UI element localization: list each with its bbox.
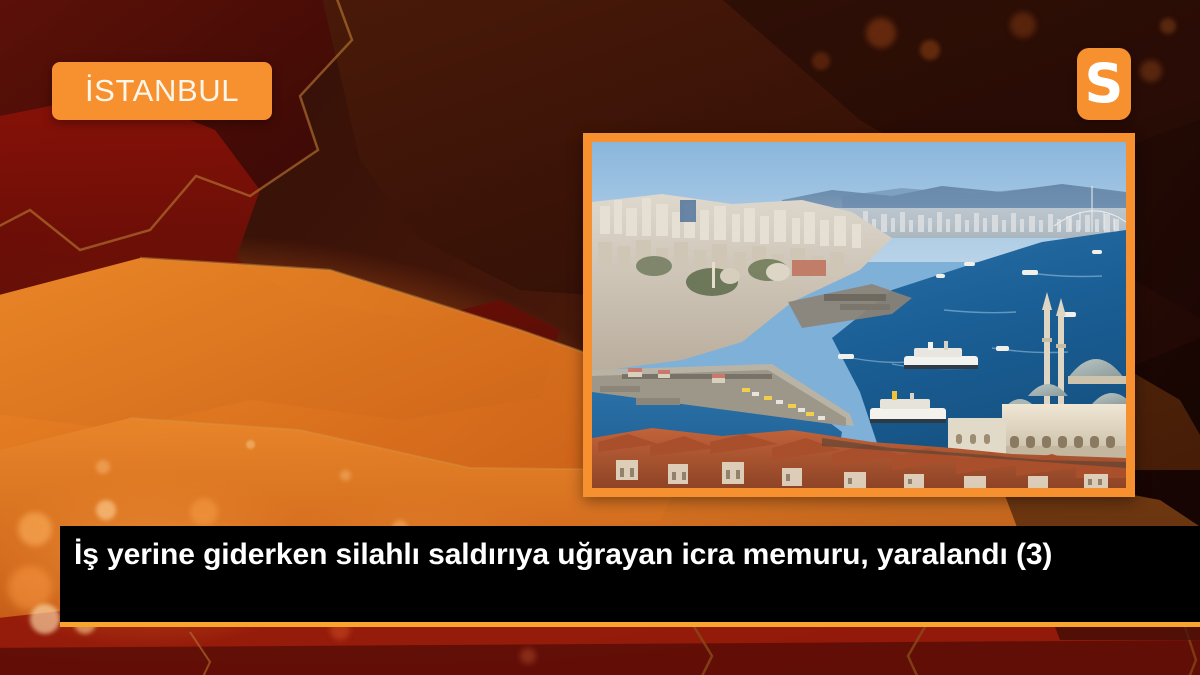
- istanbul-skyline-illustration: [592, 142, 1126, 488]
- news-photo: [592, 142, 1126, 488]
- brand-logo-letter: S: [1085, 57, 1124, 111]
- brand-logo[interactable]: S: [1077, 48, 1131, 120]
- city-badge-label: İSTANBUL: [85, 73, 239, 109]
- headline-text: İş yerine giderken silahlı saldırıya uğr…: [74, 536, 1186, 574]
- city-badge: İSTANBUL: [52, 62, 272, 120]
- headline-container: İş yerine giderken silahlı saldırıya uğr…: [60, 526, 1200, 624]
- news-photo-card[interactable]: [583, 133, 1135, 497]
- news-card: İSTANBUL S: [0, 0, 1200, 675]
- headline-divider: [60, 622, 1200, 627]
